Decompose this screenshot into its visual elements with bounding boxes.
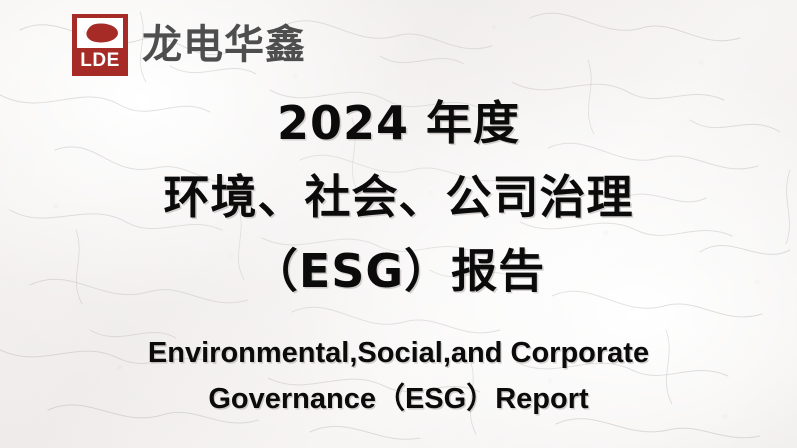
title-line-report: （ESG）报告 bbox=[0, 234, 797, 308]
cover-slide: LDE 龙电华鑫 2024 年度 环境、社会、公司治理 （ESG）报告 Envi… bbox=[0, 0, 797, 448]
title-line-topic: 环境、社会、公司治理 bbox=[0, 160, 797, 234]
subtitle-line-2: Governance（ESG）Report bbox=[0, 376, 797, 422]
cover-subtitle: Environmental,Social,and Corporate Gover… bbox=[0, 330, 797, 422]
title-line-year: 2024 年度 bbox=[0, 86, 797, 160]
logo-mark-inner bbox=[77, 18, 123, 48]
logo-mark: LDE bbox=[72, 14, 128, 76]
subtitle-line-1: Environmental,Social,and Corporate bbox=[0, 330, 797, 376]
logo-mark-text: LDE bbox=[80, 48, 120, 74]
crescent-ellipse-icon bbox=[80, 21, 120, 45]
logo-wordmark: 龙电华鑫 bbox=[142, 25, 306, 65]
cover-title: 2024 年度 环境、社会、公司治理 （ESG）报告 bbox=[0, 86, 797, 308]
company-logo: LDE 龙电华鑫 bbox=[72, 14, 306, 76]
